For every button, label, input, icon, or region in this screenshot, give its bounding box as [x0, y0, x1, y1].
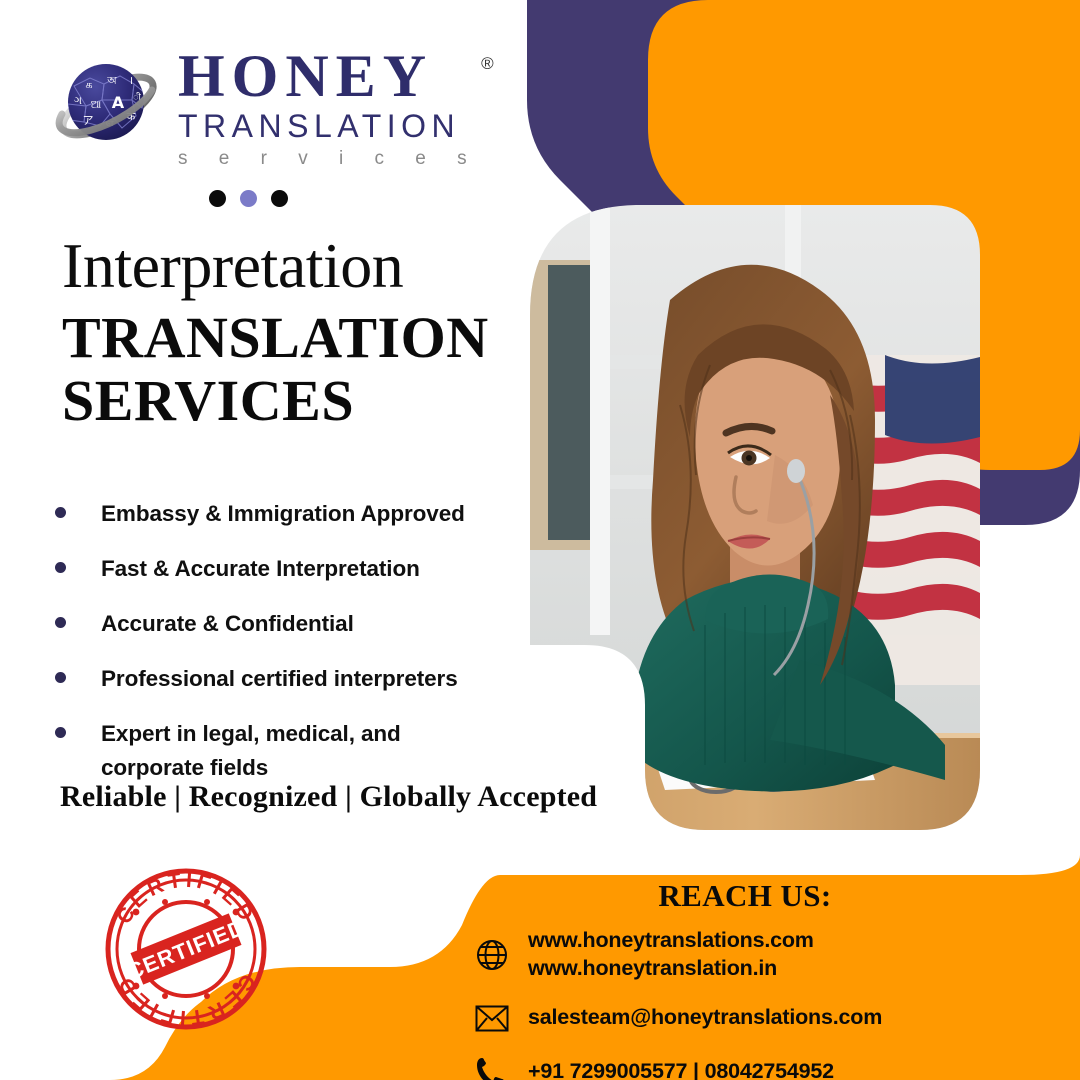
feature-list: Embassy & Immigration Approved Fast & Ac… [55, 497, 525, 806]
logo-dot-row [209, 190, 288, 207]
headline-bold-2: SERVICES [62, 367, 532, 434]
certified-stamp-icon: CERTIFIED CERTIFIED CERTIFIED [103, 866, 269, 1032]
language-globe-icon: க অ । ગ ଆ A ी ア எ क [52, 50, 164, 162]
headline-block: Interpretation TRANSLATION SERVICES [62, 234, 532, 435]
globe-icon [470, 935, 514, 975]
poster-canvas: க অ । ગ ଆ A ी ア எ क HONEY ® TRANSLATION … [0, 0, 1080, 1080]
contact-row-email[interactable]: salesteam@honeytranslations.com [470, 998, 1080, 1038]
feature-label: Professional certified interpreters [101, 662, 458, 697]
bullet-icon [55, 617, 66, 628]
list-item: Fast & Accurate Interpretation [55, 552, 525, 587]
logo-dot-2 [240, 190, 257, 207]
bullet-icon [55, 507, 66, 518]
headline-script: Interpretation [62, 234, 532, 298]
feature-label: Fast & Accurate Interpretation [101, 552, 420, 587]
svg-text:ગ: ગ [74, 94, 82, 107]
feature-label: Accurate & Confidential [101, 607, 354, 642]
svg-text:ଆ: ଆ [91, 98, 102, 111]
svg-text:ア: ア [83, 114, 94, 127]
website-line-2[interactable]: www.honeytranslation.in [528, 955, 814, 983]
headline-bold-1: TRANSLATION [62, 304, 532, 371]
svg-text:A: A [112, 93, 125, 112]
interpreter-photo [530, 205, 980, 830]
logo-dot-1 [209, 190, 226, 207]
svg-text:க: க [85, 78, 92, 91]
reach-us-title: REACH US: [545, 878, 945, 914]
bullet-icon [55, 672, 66, 683]
logo-dot-3 [271, 190, 288, 207]
website-line-1[interactable]: www.honeytranslations.com [528, 927, 814, 955]
feature-label: Expert in legal, medical, and corporate … [101, 717, 441, 787]
logo-name: HONEY [178, 48, 480, 105]
website-values: www.honeytranslations.com www.honeytrans… [528, 927, 814, 982]
list-item: Expert in legal, medical, and corporate … [55, 717, 525, 787]
envelope-icon [470, 998, 514, 1038]
tagline: Reliable | Recognized | Globally Accepte… [60, 780, 597, 814]
feature-label: Embassy & Immigration Approved [101, 497, 465, 532]
brand-logo[interactable]: க অ । ગ ଆ A ी ア எ क HONEY ® TRANSLATION … [52, 48, 480, 168]
bullet-icon [55, 562, 66, 573]
contact-row-phone[interactable]: +91 7299005577 | 08042754952 [470, 1052, 1080, 1080]
list-item: Embassy & Immigration Approved [55, 497, 525, 532]
phone-icon [470, 1052, 514, 1080]
registered-trademark-icon: ® [481, 54, 494, 74]
svg-text:।: । [129, 74, 133, 87]
list-item: Professional certified interpreters [55, 662, 525, 697]
svg-text:অ: অ [106, 74, 117, 87]
bullet-icon [55, 727, 66, 738]
contact-row-website[interactable]: www.honeytranslations.com www.honeytrans… [470, 927, 1080, 982]
logo-subtitle: TRANSLATION [178, 110, 480, 142]
phone-value[interactable]: +91 7299005577 | 08042754952 [528, 1058, 834, 1080]
logo-tertiary: s e r v i c e s [178, 149, 480, 168]
list-item: Accurate & Confidential [55, 607, 525, 642]
email-value[interactable]: salesteam@honeytranslations.com [528, 1004, 882, 1032]
contact-block: REACH US: www.honeytranslations.com www.… [470, 878, 1080, 1080]
